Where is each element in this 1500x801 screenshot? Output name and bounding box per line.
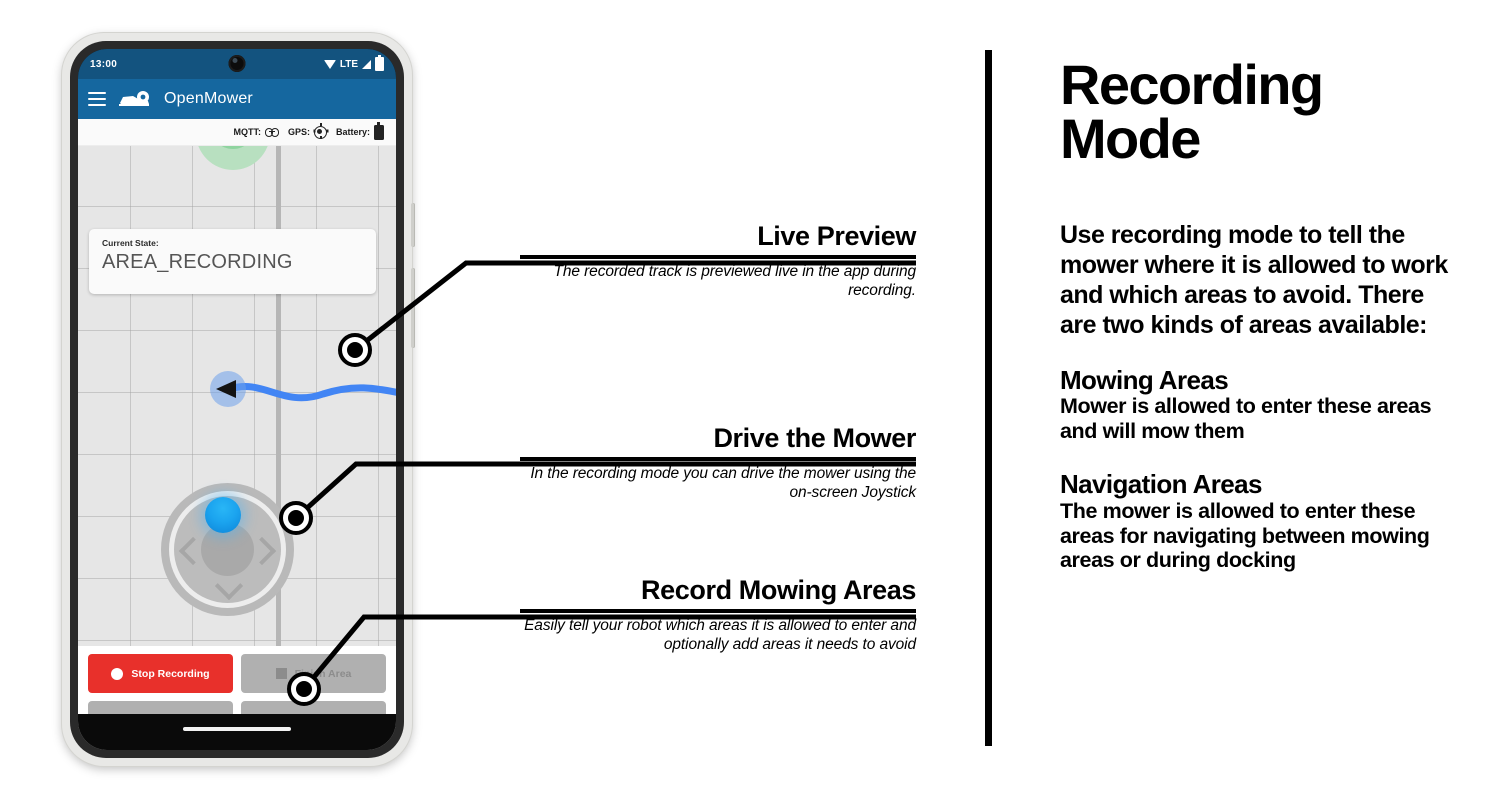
on-screen-joystick[interactable]	[161, 483, 294, 616]
callout-record-mowing-areas: Record Mowing Areas Easily tell your rob…	[520, 576, 916, 655]
battery-icon	[375, 57, 384, 71]
mower-position-marker	[210, 371, 246, 407]
phone-mockup: 13:00 LTE	[62, 33, 412, 766]
callout-title: Live Preview	[520, 222, 916, 250]
phone-volume-button[interactable]	[411, 268, 415, 348]
signal-icon	[362, 60, 371, 69]
openmower-logo-icon	[118, 89, 152, 109]
panel-section-navigation-areas: Navigation Areas The mower is allowed to…	[1060, 470, 1460, 573]
callout-rule	[520, 609, 916, 613]
network-label: LTE	[340, 59, 358, 70]
finish-area-label: Finish Area	[295, 668, 352, 680]
gps-target-icon	[314, 126, 327, 139]
callout-title: Record Mowing Areas	[520, 576, 916, 604]
link-icon	[265, 128, 279, 137]
vertical-divider	[985, 50, 992, 746]
battery-icon	[374, 125, 384, 140]
stop-recording-label: Stop Recording	[131, 668, 209, 680]
current-state-label: Current State:	[102, 238, 363, 248]
gps-status: GPS:	[288, 126, 327, 139]
callout-title: Drive the Mower	[520, 424, 916, 452]
connection-status-strip: MQTT: GPS: Battery:	[78, 119, 396, 146]
front-camera-punch-hole	[229, 55, 246, 72]
info-panel: Recording Mode Use recording mode to tel…	[1060, 58, 1460, 573]
callout-text: The recorded track is previewed live in …	[520, 263, 916, 301]
gps-label: GPS:	[288, 127, 310, 137]
app-bar: OpenMower	[78, 79, 396, 119]
hamburger-menu-icon[interactable]	[88, 92, 106, 106]
stop-recording-button[interactable]: Stop Recording	[88, 654, 233, 693]
section-body: The mower is allowed to enter these area…	[1060, 499, 1460, 574]
current-state-value: AREA_RECORDING	[102, 251, 363, 274]
stop-square-icon	[276, 668, 287, 679]
status-clock: 13:00	[90, 59, 117, 70]
record-circle-icon	[111, 668, 123, 680]
mower-heading-arrow-icon	[216, 380, 236, 398]
current-state-card: Current State: AREA_RECORDING	[89, 229, 376, 294]
wifi-icon	[324, 60, 336, 69]
callout-rule	[520, 255, 916, 259]
section-body: Mower is allowed to enter these areas an…	[1060, 394, 1460, 444]
mqtt-status: MQTT:	[233, 127, 279, 137]
joystick-knob[interactable]	[205, 497, 241, 533]
phone-screen: 13:00 LTE	[78, 49, 396, 750]
panel-intro-text: Use recording mode to tell the mower whe…	[1060, 220, 1460, 340]
android-status-bar: 13:00 LTE	[78, 49, 396, 79]
camera-glint	[233, 58, 238, 63]
panel-section-mowing-areas: Mowing Areas Mower is allowed to enter t…	[1060, 366, 1460, 444]
status-icons: LTE	[324, 57, 384, 71]
finish-area-button[interactable]: Finish Area	[241, 654, 386, 693]
battery-label: Battery:	[336, 127, 370, 137]
callout-drive-the-mower: Drive the Mower In the recording mode yo…	[520, 424, 916, 503]
callout-text: In the recording mode you can drive the …	[520, 465, 916, 503]
phone-power-button[interactable]	[411, 203, 415, 247]
phone-bezel: 13:00 LTE	[70, 41, 404, 758]
callout-rule	[520, 457, 916, 461]
section-heading: Mowing Areas	[1060, 366, 1460, 395]
app-title: OpenMower	[164, 90, 253, 108]
android-navigation-bar	[78, 714, 396, 750]
mqtt-label: MQTT:	[233, 127, 261, 137]
panel-title: Recording Mode	[1060, 58, 1460, 166]
callout-live-preview: Live Preview The recorded track is previ…	[520, 222, 916, 301]
map-view[interactable]: Current State: AREA_RECORDING	[78, 146, 396, 714]
battery-status: Battery:	[336, 125, 384, 140]
section-heading: Navigation Areas	[1060, 470, 1460, 499]
callout-text: Easily tell your robot which areas it is…	[520, 617, 916, 655]
gesture-pill[interactable]	[183, 727, 291, 731]
